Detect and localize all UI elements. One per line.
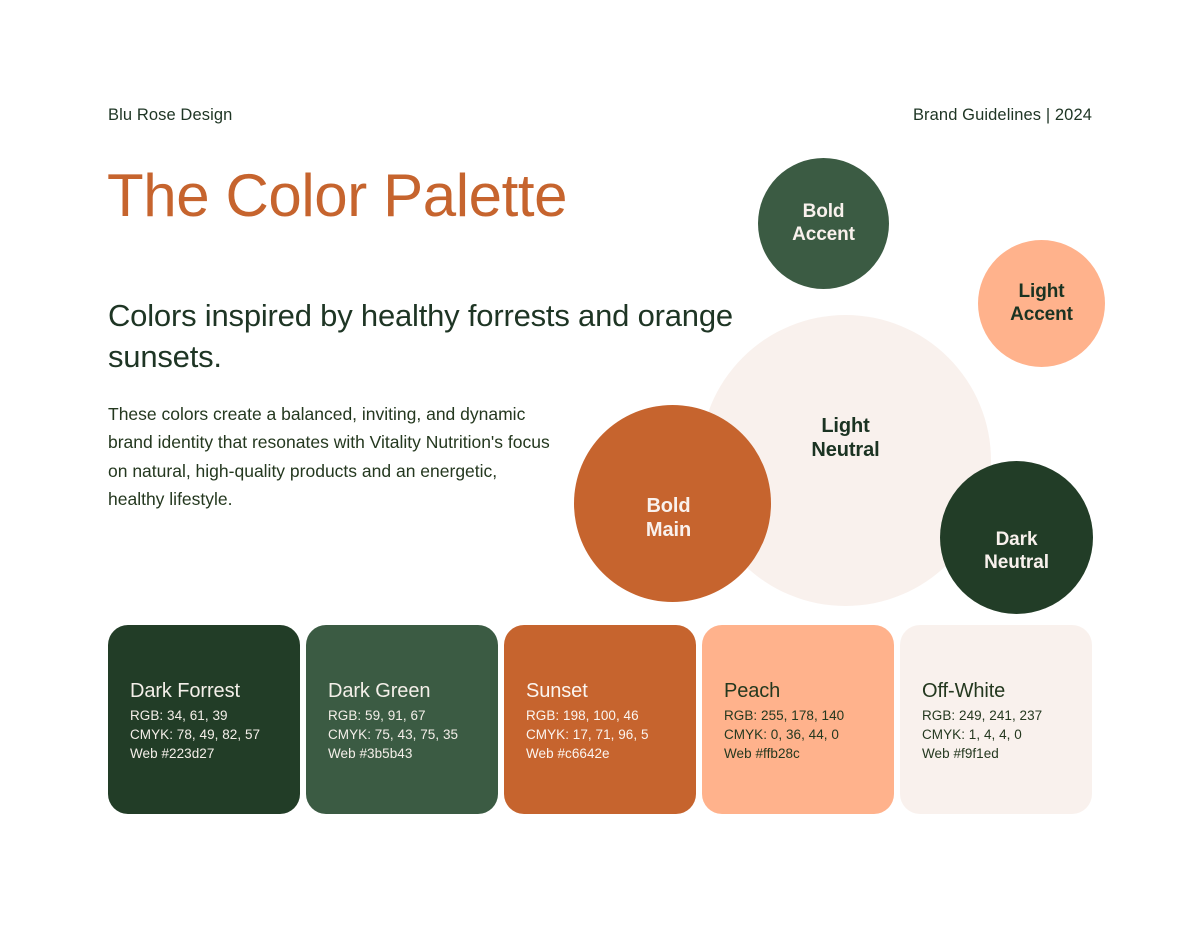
swatch-cmyk: CMYK: 78, 49, 82, 57 xyxy=(130,725,290,744)
circle-label: BoldMain xyxy=(646,495,691,542)
swatch-card[interactable]: Off-WhiteRGB: 249, 241, 237CMYK: 1, 4, 4… xyxy=(900,625,1092,814)
swatch-rgb: RGB: 198, 100, 46 xyxy=(526,706,686,725)
circle-bold-accent: BoldAccent xyxy=(758,158,889,289)
document-meta: Brand Guidelines | 2024 xyxy=(913,106,1092,125)
swatch-rgb: RGB: 249, 241, 237 xyxy=(922,706,1082,725)
swatch-web-hex: Web #ffb28c xyxy=(724,744,884,763)
swatch-cmyk: CMYK: 75, 43, 75, 35 xyxy=(328,725,488,744)
swatch-card[interactable]: PeachRGB: 255, 178, 140CMYK: 0, 36, 44, … xyxy=(702,625,894,814)
swatch-rgb: RGB: 255, 178, 140 xyxy=(724,706,884,725)
circle-bold-main: BoldMain xyxy=(574,405,771,602)
swatch-rgb: RGB: 59, 91, 67 xyxy=(328,706,488,725)
swatch-name: Off-White xyxy=(922,679,1082,703)
circle-label: LightNeutral xyxy=(811,415,879,462)
page-subtitle: Colors inspired by healthy forrests and … xyxy=(108,295,733,377)
circle-light-accent: LightAccent xyxy=(978,240,1105,367)
brand-name: Blu Rose Design xyxy=(108,106,232,125)
swatch-card[interactable]: SunsetRGB: 198, 100, 46CMYK: 17, 71, 96,… xyxy=(504,625,696,814)
swatch-cmyk: CMYK: 0, 36, 44, 0 xyxy=(724,725,884,744)
swatch-rgb: RGB: 34, 61, 39 xyxy=(130,706,290,725)
swatch-name: Peach xyxy=(724,679,884,703)
swatch-web-hex: Web #f9f1ed xyxy=(922,744,1082,763)
color-palette-page: Blu Rose Design Brand Guidelines | 2024 … xyxy=(0,0,1200,927)
circle-label: DarkNeutral xyxy=(984,529,1049,574)
swatch-cmyk: CMYK: 1, 4, 4, 0 xyxy=(922,725,1082,744)
description-paragraph: These colors create a balanced, inviting… xyxy=(108,400,558,513)
circle-dark-neutral: DarkNeutral xyxy=(940,461,1093,614)
swatch-web-hex: Web #3b5b43 xyxy=(328,744,488,763)
swatch-web-hex: Web #c6642e xyxy=(526,744,686,763)
swatch-cmyk: CMYK: 17, 71, 96, 5 xyxy=(526,725,686,744)
swatch-card-row: Dark ForrestRGB: 34, 61, 39CMYK: 78, 49,… xyxy=(108,625,1092,814)
swatch-name: Dark Green xyxy=(328,679,488,703)
swatch-name: Sunset xyxy=(526,679,686,703)
circle-label: LightAccent xyxy=(1010,281,1073,326)
swatch-card[interactable]: Dark ForrestRGB: 34, 61, 39CMYK: 78, 49,… xyxy=(108,625,300,814)
circle-label: BoldAccent xyxy=(792,201,855,246)
swatch-name: Dark Forrest xyxy=(130,679,290,703)
page-title: The Color Palette xyxy=(107,165,567,226)
swatch-web-hex: Web #223d27 xyxy=(130,744,290,763)
swatch-card[interactable]: Dark GreenRGB: 59, 91, 67CMYK: 75, 43, 7… xyxy=(306,625,498,814)
